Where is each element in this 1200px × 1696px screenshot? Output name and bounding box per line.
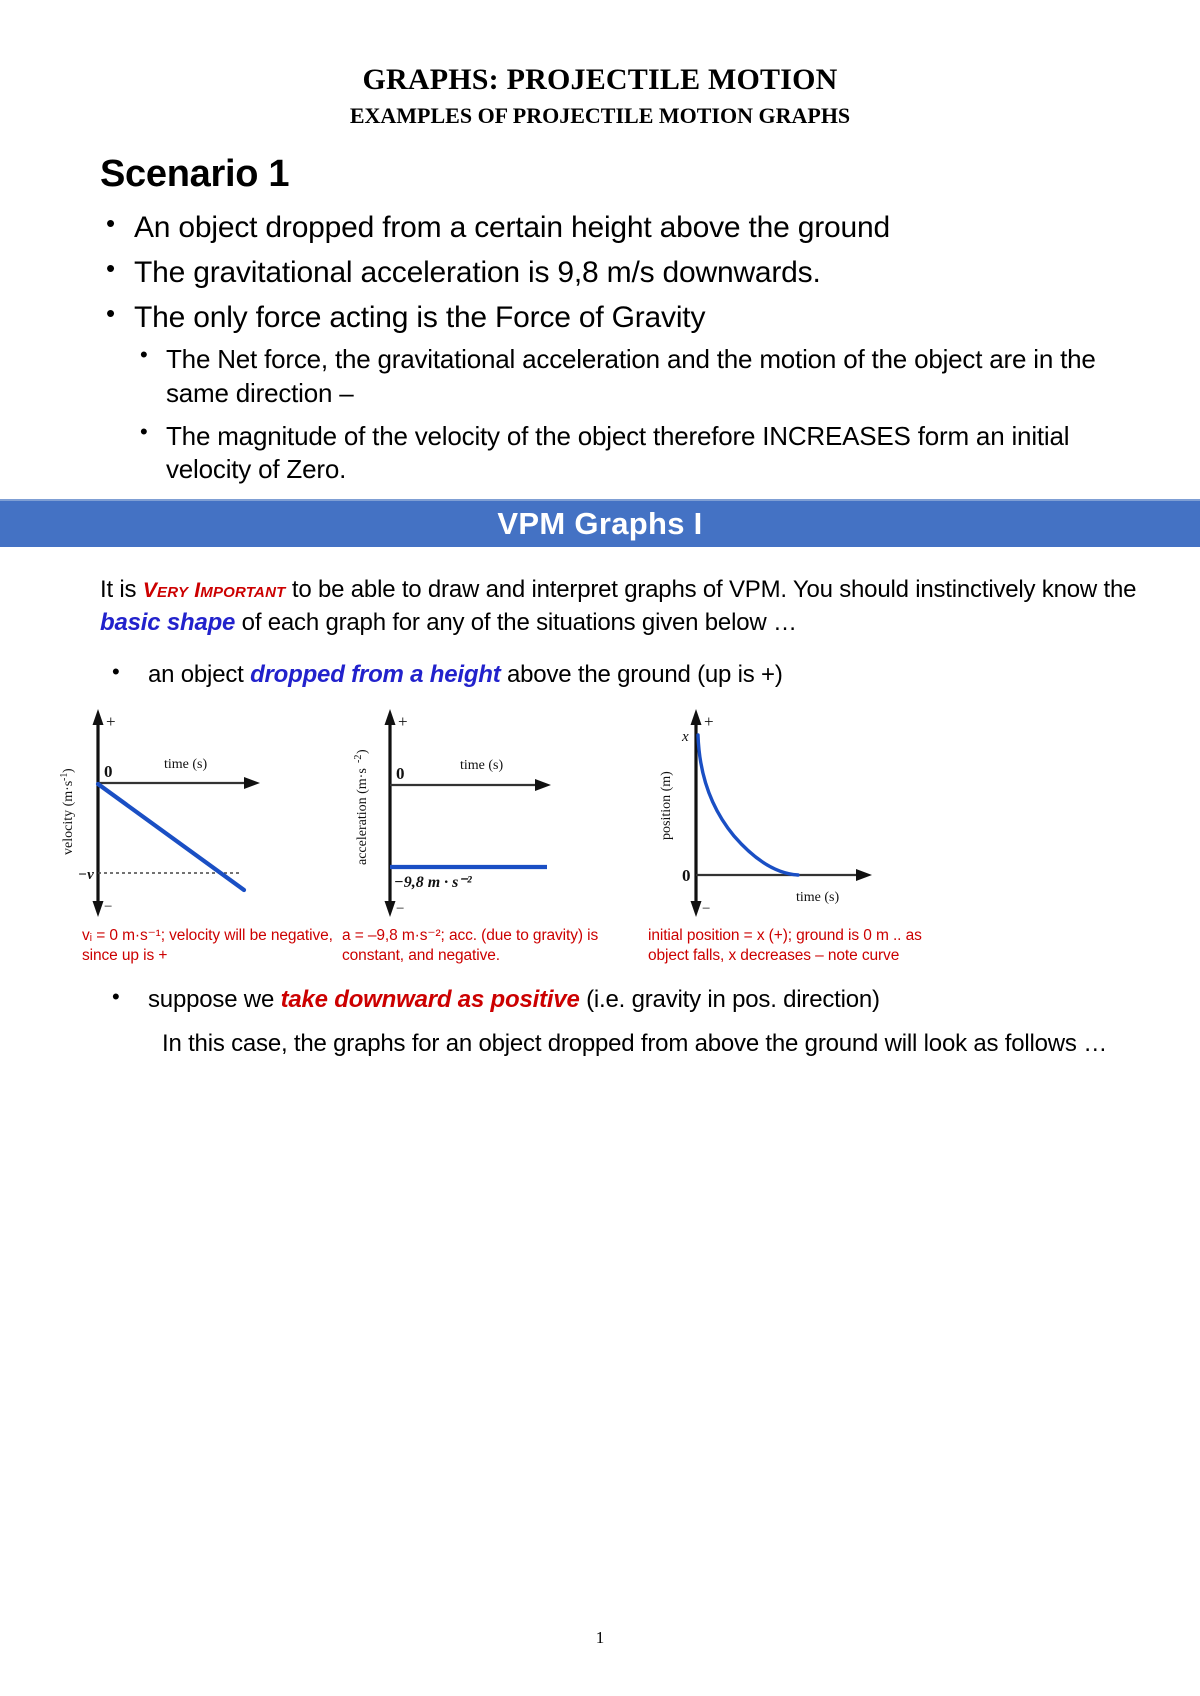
chart-acceleration-time: acceleration (m·s -2 ) + 0 time (s) −9,8… [342,705,642,966]
tail-bullet-pre: suppose we [148,986,281,1013]
minus-sign-label: − [702,901,710,917]
time-axis-label: time (s) [460,758,503,773]
vpm-bullet-pre: an object [148,661,250,688]
page-number: 1 [0,1628,1200,1648]
chart-caption: a = –9,8 m·s⁻²; acc. (due to gravity) is… [342,926,642,966]
position-time-svg: + x position (m) 0 time (s) − [648,705,948,920]
vpm-tail-section: suppose we take downward as positive (i.… [0,984,1200,1060]
plus-sign-label: + [704,712,714,731]
acceleration-axis-label: acceleration (m·s [355,768,370,865]
svg-text:): ) [61,768,76,773]
time-axis-label: time (s) [164,757,207,772]
chart-position-time: + x position (m) 0 time (s) − initial po… [648,705,948,966]
vpm-banner: VPM Graphs I [0,499,1200,547]
graph-row: velocity (m·s -1 ) + 0 time (s) −v − vᵢ … [0,705,1200,966]
chart-velocity-time: velocity (m·s -1 ) + 0 time (s) −v − vᵢ … [36,705,336,966]
page-subtitle: EXAMPLES OF PROJECTILE MOTION GRAPHS [0,96,1200,127]
plus-sign-label: + [398,712,408,731]
tail-paragraph: In this case, the graphs for an object d… [100,1027,1140,1060]
list-item: The only force acting is the Force of Gr… [100,298,1140,486]
vpm-bullet-post: above the ground (up is +) [501,661,783,688]
origin-label: 0 [396,764,405,783]
vpm-intro-paragraph: It is Very Important to be able to draw … [100,573,1140,639]
svg-text:): ) [355,749,370,754]
vpm-intro-emphasis-red: Very Important [143,579,286,602]
page-title: GRAPHS: PROJECTILE MOTION [0,0,1200,96]
position-axis-label: position (m) [659,771,674,840]
scenario-heading: Scenario 1 [100,155,1140,195]
vpm-section: It is Very Important to be able to draw … [0,573,1200,692]
vpm-intro-part-1: It is [100,576,143,603]
scenario-sub-bullet-list: The Net force, the gravitational acceler… [134,343,1140,486]
vpm-bullet-emphasis-blue: dropped from a height [250,661,500,688]
chart-caption: vᵢ = 0 m·s⁻¹; velocity will be negative,… [36,926,336,966]
origin-label: 0 [104,762,113,781]
minus-sign-label: − [396,901,404,917]
vpm-bullet-list: an object dropped from a height above th… [100,659,1140,691]
vpm-intro-part-3: of each graph for any of the situations … [235,609,797,636]
velocity-axis-label: velocity (m·s [61,781,76,855]
list-item: An object dropped from a certain height … [100,208,1140,247]
acceleration-time-svg: acceleration (m·s -2 ) + 0 time (s) −9,8… [342,705,642,920]
list-item: an object dropped from a height above th… [100,659,1140,691]
plus-sign-label: + [106,712,116,731]
velocity-time-svg: velocity (m·s -1 ) + 0 time (s) −v − [36,705,336,920]
tail-bullet-post: (i.e. gravity in pos. direction) [580,986,880,1013]
tail-bullet-emphasis-red: take downward as positive [281,986,580,1013]
chart-caption: initial position = x (+); ground is 0 m … [648,926,948,966]
vpm-intro-part-2: to be able to draw and interpret graphs … [285,576,1136,603]
list-item: The magnitude of the velocity of the obj… [134,420,1140,487]
origin-label: 0 [682,866,691,885]
initial-position-label: x [681,729,689,745]
scenario-bullet-list: An object dropped from a certain height … [100,208,1140,486]
list-item: The gravitational acceleration is 9,8 m/… [100,253,1140,292]
acceleration-value-label: −9,8 m · s⁻² [394,874,473,891]
svg-text:-2: -2 [353,755,364,763]
document-page: GRAPHS: PROJECTILE MOTION EXAMPLES OF PR… [0,0,1200,1696]
time-axis-label: time (s) [796,890,839,905]
minus-v-label: −v [78,867,94,883]
vpm-intro-emphasis-blue: basic shape [100,609,235,636]
minus-sign-label: − [104,899,112,915]
list-item: The Net force, the gravitational acceler… [134,343,1140,410]
scenario-section: Scenario 1 An object dropped from a cert… [0,155,1200,487]
list-item: suppose we take downward as positive (i.… [100,984,1140,1016]
vpm-banner-label: VPM Graphs I [497,506,702,542]
list-item-label: The only force acting is the Force of Gr… [134,301,705,334]
